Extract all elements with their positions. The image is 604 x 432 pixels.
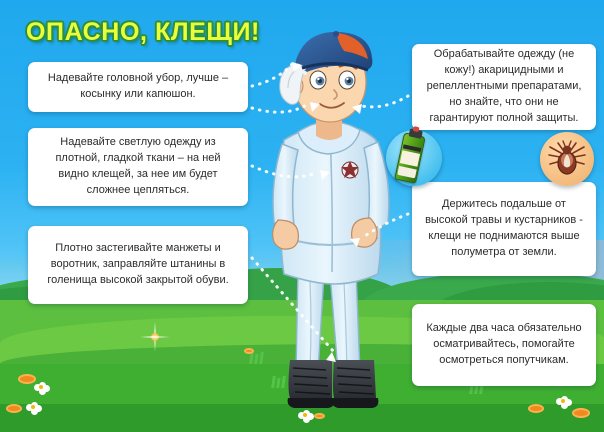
spray-can-icon <box>394 132 425 184</box>
flower-orange <box>528 404 544 413</box>
tick-badge <box>540 132 594 186</box>
flower-orange <box>6 404 22 413</box>
tip-card-hat-text: Надевайте головной убор, лучше – косынку… <box>39 71 237 103</box>
tick-icon <box>547 140 587 178</box>
tip-card-hat[interactable]: Надевайте головной убор, лучше – косынку… <box>28 62 248 112</box>
boy-illustration <box>246 20 406 410</box>
tip-card-self-check[interactable]: Каждые два часа обязательно осматривайте… <box>412 304 596 386</box>
tip-card-tall-grass-text: Держитесь подальше от высокой травы и ку… <box>423 197 585 261</box>
tip-card-repellent-text: Обрабатывайте одежду (не кожу!) акарицид… <box>423 47 585 127</box>
tip-card-clothing-text: Надевайте светлую одежду из плотной, гла… <box>39 135 237 199</box>
flower-orange <box>572 408 590 418</box>
tip-card-tall-grass[interactable]: Держитесь подальше от высокой травы и ку… <box>412 182 596 276</box>
page-title: ОПАСНО, КЛЕЩИ! <box>26 18 260 47</box>
tip-card-repellent[interactable]: Обрабатывайте одежду (не кожу!) акарицид… <box>412 44 596 130</box>
spray-can-badge <box>386 130 442 186</box>
flower-orange <box>18 374 36 384</box>
sparkle-icon <box>140 322 170 352</box>
tip-card-cuffs[interactable]: Плотно застегивайте манжеты и воротник, … <box>28 226 248 304</box>
tick-safety-poster: ОПАСНО, КЛЕЩИ! Надевайте головной убор, … <box>0 0 604 432</box>
flower-orange <box>314 413 325 419</box>
tip-card-cuffs-text: Плотно застегивайте манжеты и воротник, … <box>39 241 237 289</box>
tip-card-self-check-text: Каждые два часа обязательно осматривайте… <box>423 321 585 369</box>
tip-card-clothing[interactable]: Надевайте светлую одежду из плотной, гла… <box>28 128 248 206</box>
